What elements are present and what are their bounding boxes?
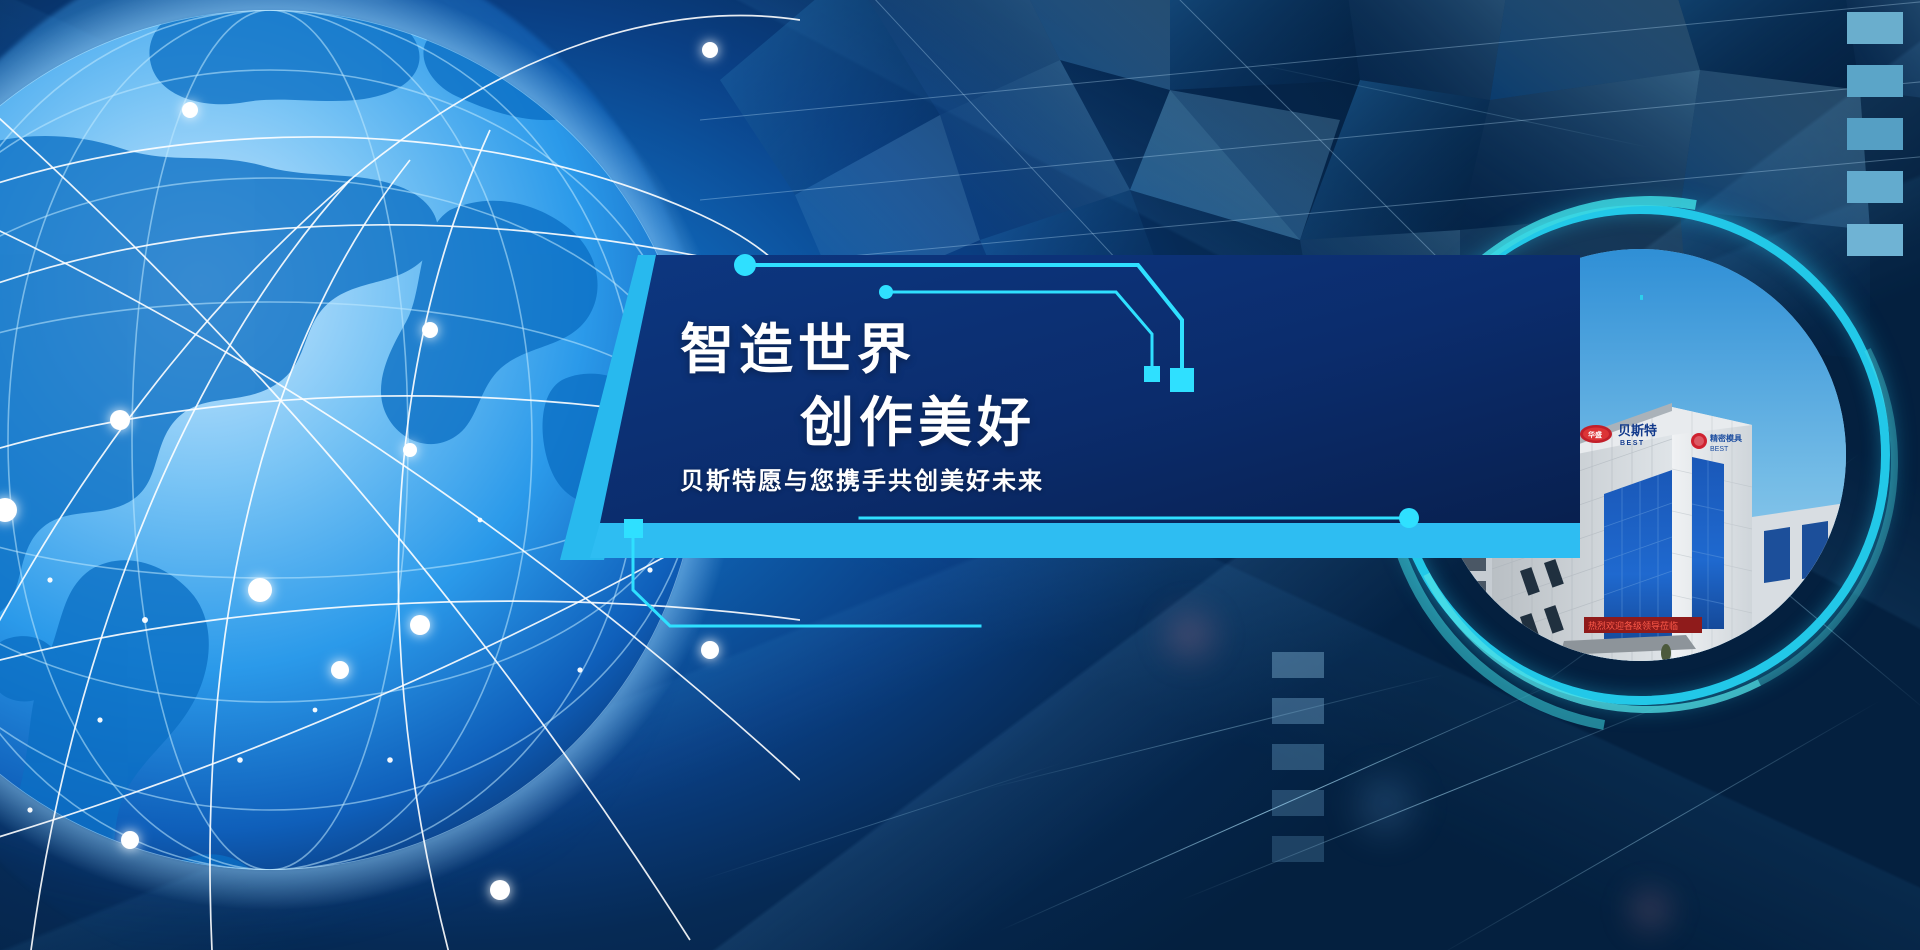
bar-segment	[1272, 698, 1324, 724]
circuit-node-square	[1144, 366, 1160, 382]
bar-stack-middle	[1272, 652, 1324, 862]
bar-segment	[1272, 744, 1324, 770]
circuit-line-icon	[560, 230, 1620, 650]
circuit-node-square	[1170, 368, 1194, 392]
bar-segment	[1847, 12, 1903, 44]
circuit-node-square	[624, 519, 643, 538]
circuit-endpoint-dot	[1399, 508, 1419, 528]
bar-segment	[1847, 118, 1903, 150]
bar-stack-top-right	[1847, 12, 1903, 256]
circuit-endpoint-dot	[879, 285, 893, 299]
banner-stage: 华盛 贝斯特 BEST 精密模具 BEST 热烈欢迎各级领导莅临	[0, 0, 1920, 950]
circuit-endpoint-dot	[734, 254, 756, 276]
bar-segment	[1272, 652, 1324, 678]
bar-segment	[1272, 836, 1324, 862]
glow-flare	[1620, 880, 1680, 940]
bar-segment	[1847, 224, 1903, 256]
bar-segment	[1847, 65, 1903, 97]
glow-flare	[1340, 760, 1430, 850]
bar-segment	[1272, 790, 1324, 816]
bar-segment	[1847, 171, 1903, 203]
